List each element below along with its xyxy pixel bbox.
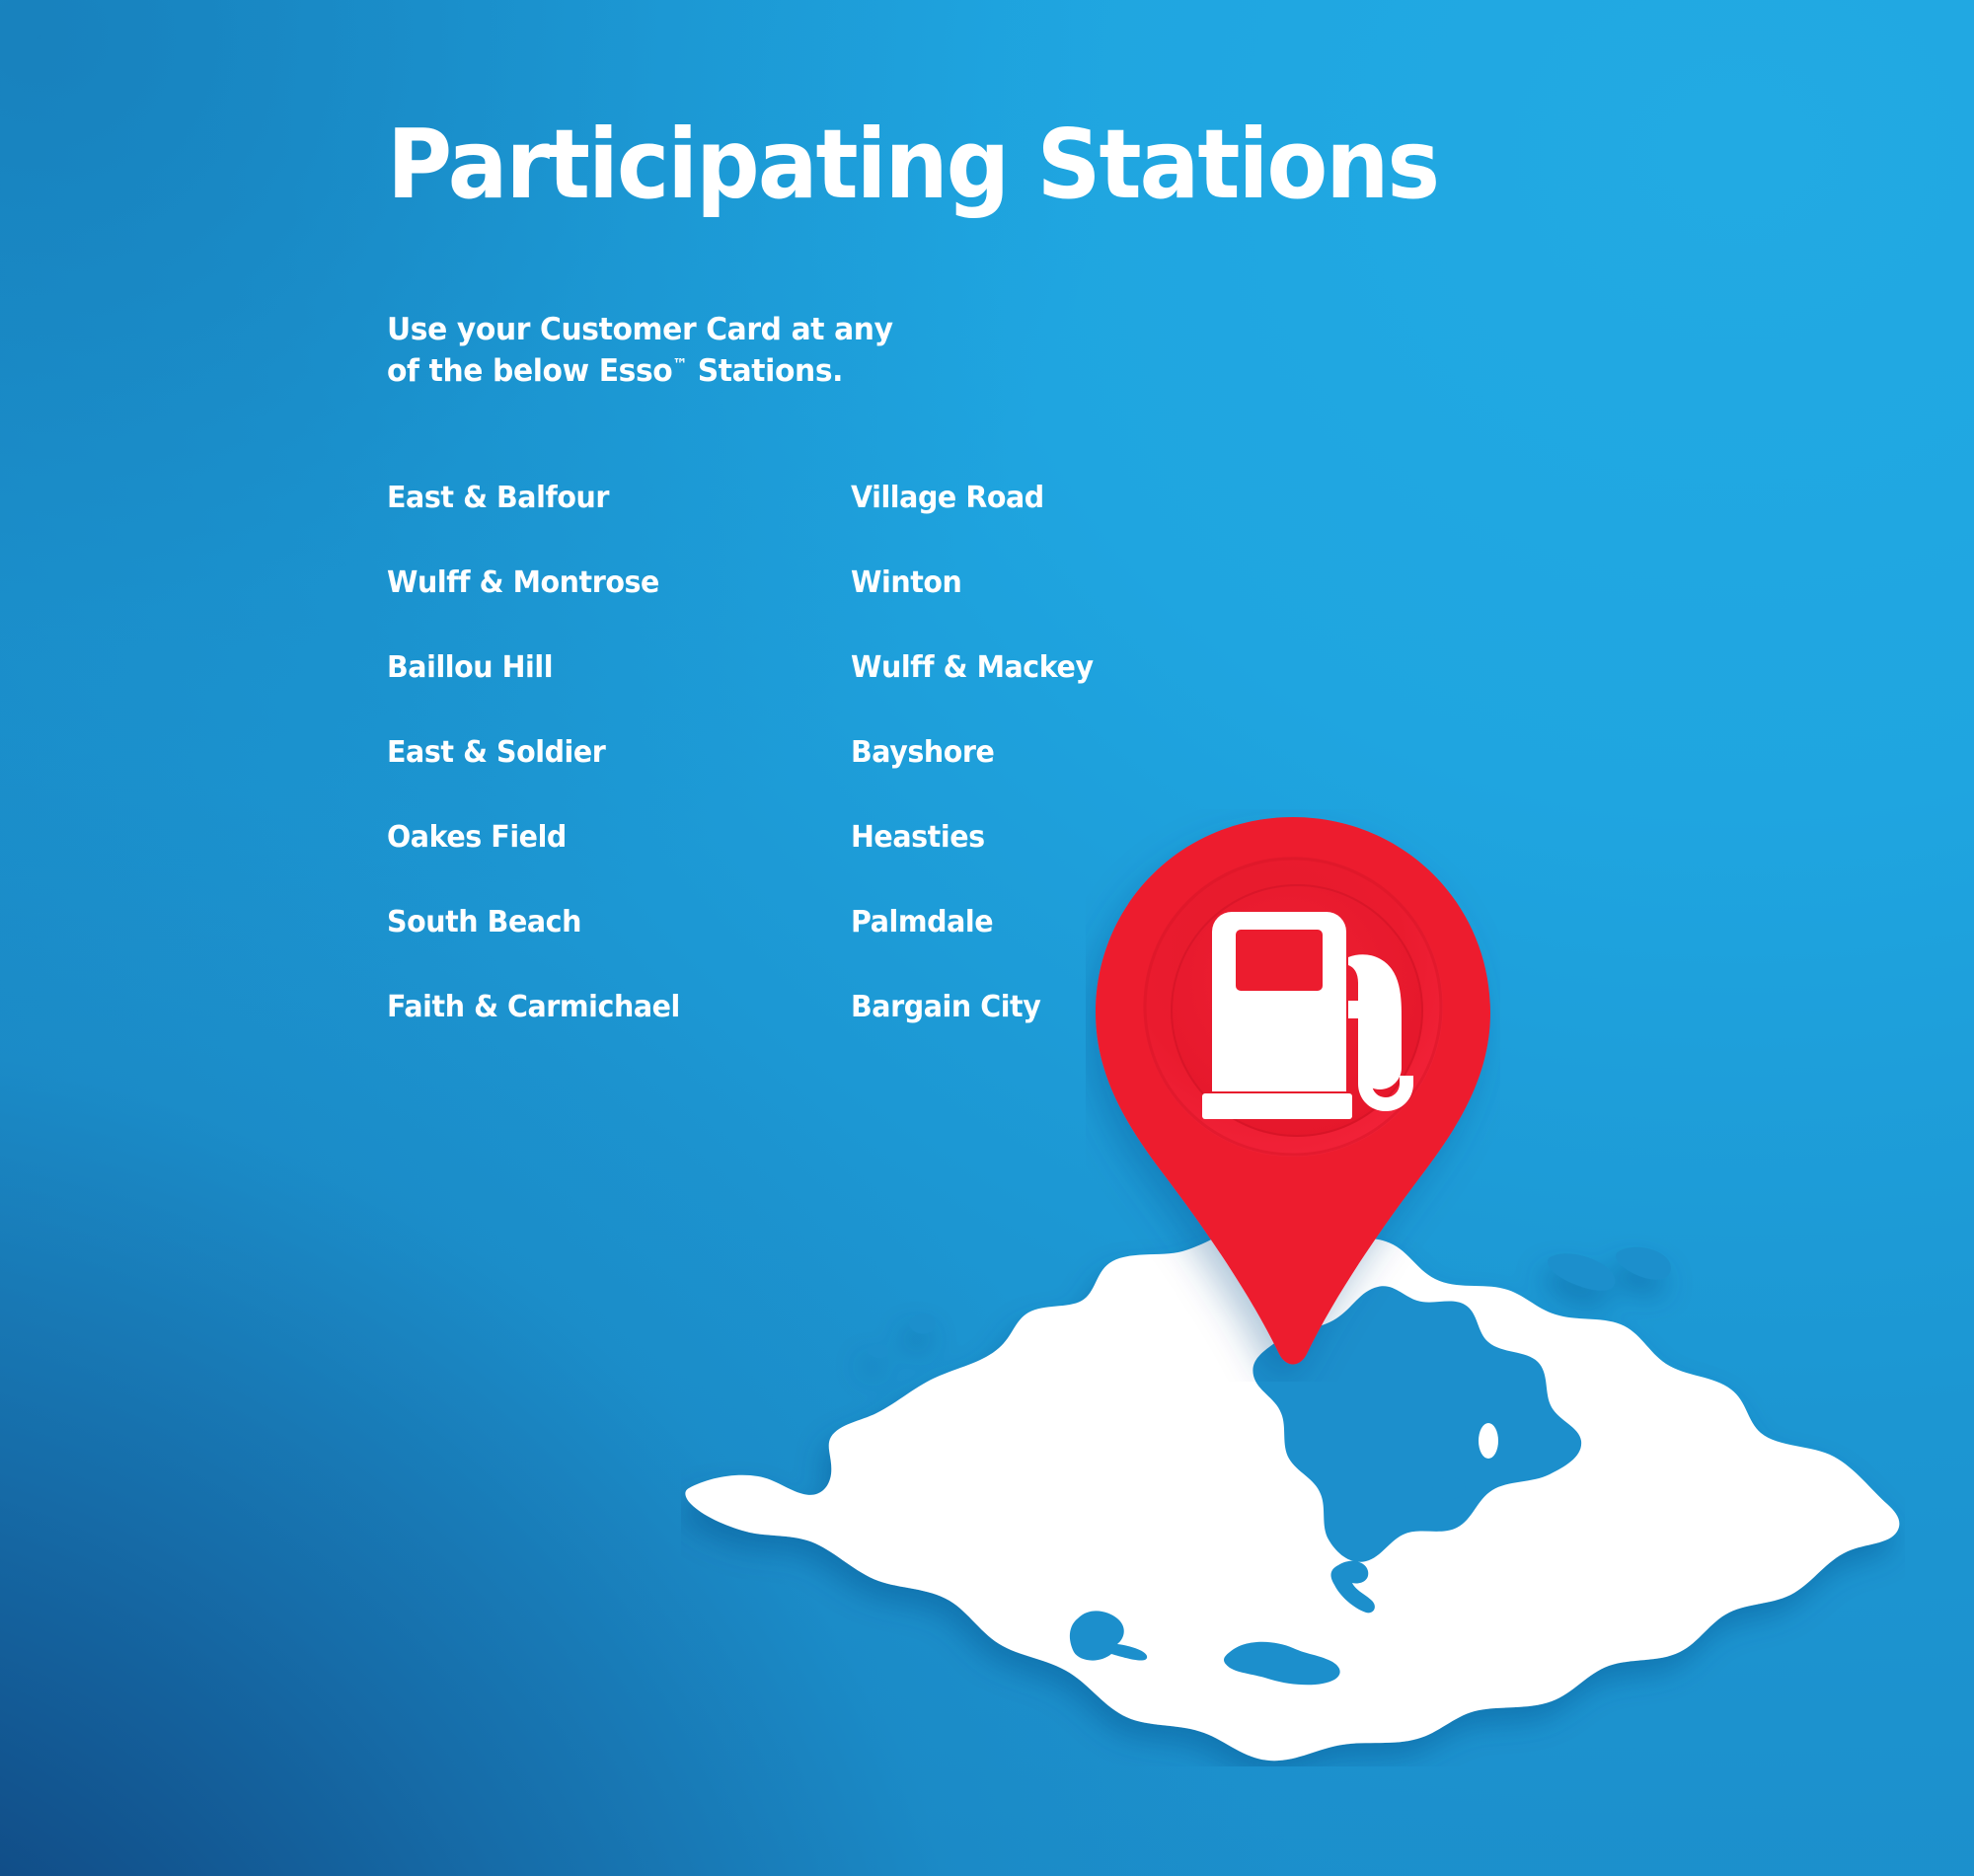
location-pin[interactable]: [1086, 809, 1500, 1382]
list-item[interactable]: Wulff & Montrose: [387, 563, 828, 648]
subtitle: Use your Customer Card at any of the bel…: [387, 309, 1429, 392]
list-item[interactable]: Bayshore: [851, 733, 1292, 818]
list-item[interactable]: Village Road: [851, 479, 1292, 563]
list-item[interactable]: Wulff & Mackey: [851, 648, 1292, 733]
subtitle-line-2-pre: of the below Esso: [387, 353, 672, 389]
list-item[interactable]: Winton: [851, 563, 1292, 648]
text-content-block: Participating Stations Use your Customer…: [387, 116, 1473, 392]
subtitle-line-1: Use your Customer Card at any: [387, 312, 893, 347]
lake-island-dot: [1479, 1423, 1498, 1459]
page-title: Participating Stations: [387, 116, 1397, 214]
list-item[interactable]: Baillou Hill: [387, 648, 828, 733]
list-item[interactable]: East & Soldier: [387, 733, 828, 818]
map-illustration: [651, 809, 1935, 1796]
list-item[interactable]: East & Balfour: [387, 479, 828, 563]
participating-stations-poster: Participating Stations Use your Customer…: [0, 0, 1974, 1876]
trademark-symbol: ™: [672, 355, 687, 374]
subtitle-line-2-post: Stations.: [688, 353, 843, 389]
